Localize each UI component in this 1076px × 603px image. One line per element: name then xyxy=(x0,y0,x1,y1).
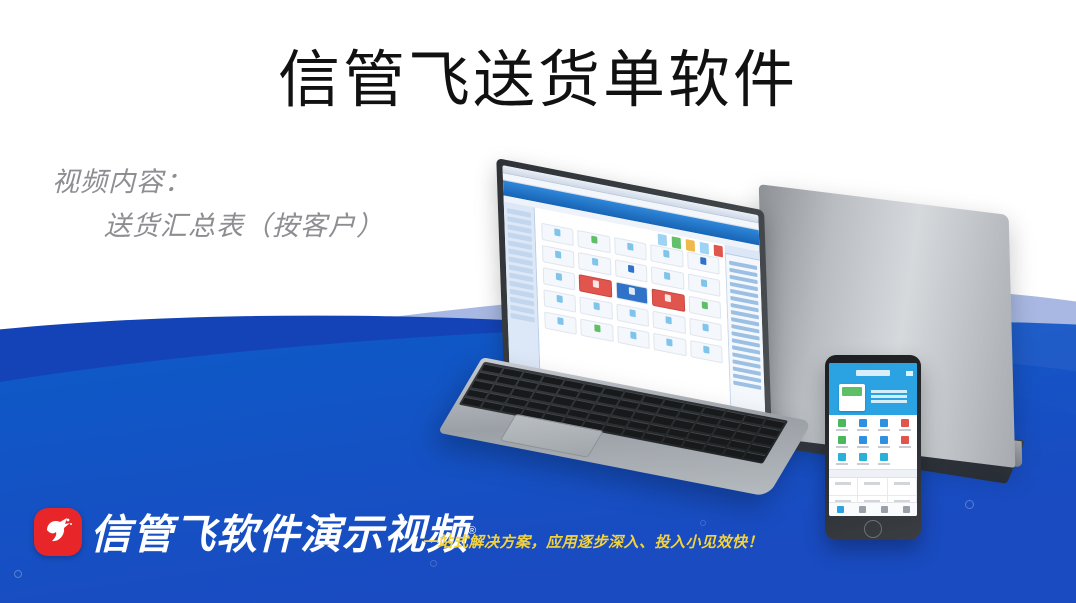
toolbar-icon[interactable] xyxy=(658,234,667,247)
video-content-label: 视频内容： xyxy=(52,160,384,204)
device-mockup-group xyxy=(470,175,1076,535)
app-right-panel[interactable] xyxy=(725,245,766,422)
phone-stat-cell xyxy=(858,478,887,496)
app-icon[interactable] xyxy=(617,326,650,349)
phone-grid-item[interactable] xyxy=(853,436,872,448)
app-icon[interactable] xyxy=(651,266,684,289)
phone-grid-item[interactable] xyxy=(874,436,893,448)
brand-title: 信管飞软件演示视频® xyxy=(90,505,477,561)
phone-grid-item[interactable] xyxy=(853,419,872,431)
app-icon[interactable] xyxy=(581,319,614,342)
app-icon[interactable] xyxy=(687,273,720,296)
presentation-slide: 信管飞送货单软件 视频内容： 送货汇总表（按客户） xyxy=(0,0,1076,603)
phone-screen xyxy=(829,363,917,516)
phone-grid-item[interactable] xyxy=(874,453,893,465)
phone-grid-item[interactable] xyxy=(853,453,872,465)
toolbar-icon[interactable] xyxy=(714,245,723,258)
video-content-value: 送货汇总表（按客户） xyxy=(52,204,384,248)
phone-app-header xyxy=(829,368,917,379)
toolbar-icon[interactable] xyxy=(700,242,709,255)
brand-tagline: 一站式解决方案，应用逐步深入、投入小见效快！ xyxy=(422,532,763,554)
app-icon[interactable] xyxy=(653,311,686,334)
app-icon[interactable] xyxy=(543,289,576,312)
phone-grid-item[interactable] xyxy=(832,436,851,448)
app-icon[interactable] xyxy=(614,237,647,260)
app-icon[interactable] xyxy=(542,245,575,268)
app-icon[interactable] xyxy=(578,230,611,253)
front-laptop-mockup xyxy=(470,185,830,515)
app-icon[interactable] xyxy=(615,281,648,304)
app-icon[interactable] xyxy=(688,296,721,319)
app-icon[interactable] xyxy=(544,311,577,334)
phone-grid-item[interactable] xyxy=(832,419,851,431)
app-icon[interactable] xyxy=(689,318,722,341)
phone-grid-item[interactable] xyxy=(895,419,914,431)
app-icon[interactable] xyxy=(653,333,686,356)
toolbar-icon[interactable] xyxy=(686,239,695,252)
phone-stat-cell xyxy=(829,478,858,496)
hamburger-menu-icon[interactable] xyxy=(906,371,913,376)
phone-stats-header xyxy=(829,469,917,478)
brand-title-text: 信管飞软件演示视频 xyxy=(90,512,468,558)
phone-app-title xyxy=(856,370,890,376)
phone-feature-grid xyxy=(829,415,917,469)
phone-hero-banner xyxy=(829,379,917,415)
phone-banner-card-icon xyxy=(839,384,865,411)
app-icon[interactable] xyxy=(580,296,613,319)
app-icon[interactable] xyxy=(690,340,723,363)
app-icon[interactable] xyxy=(615,259,648,282)
app-icon[interactable] xyxy=(543,267,576,290)
app-icon[interactable] xyxy=(541,223,574,246)
phone-stat-cell xyxy=(888,478,917,496)
phone-grid-item[interactable] xyxy=(874,419,893,431)
toolbar-icon[interactable] xyxy=(672,236,681,249)
app-icon[interactable] xyxy=(616,304,649,327)
video-content-block: 视频内容： 送货汇总表（按客户） xyxy=(52,160,384,248)
phone-grid-item[interactable] xyxy=(895,436,914,448)
app-icon[interactable] xyxy=(652,288,685,311)
page-title: 信管飞送货单软件 xyxy=(0,46,1076,116)
phone-banner-text xyxy=(871,390,907,405)
xinguanfei-bird-logo-icon xyxy=(34,508,82,556)
phone-grid-item[interactable] xyxy=(832,453,851,465)
app-icon[interactable] xyxy=(579,274,612,297)
app-icon[interactable] xyxy=(578,252,611,275)
